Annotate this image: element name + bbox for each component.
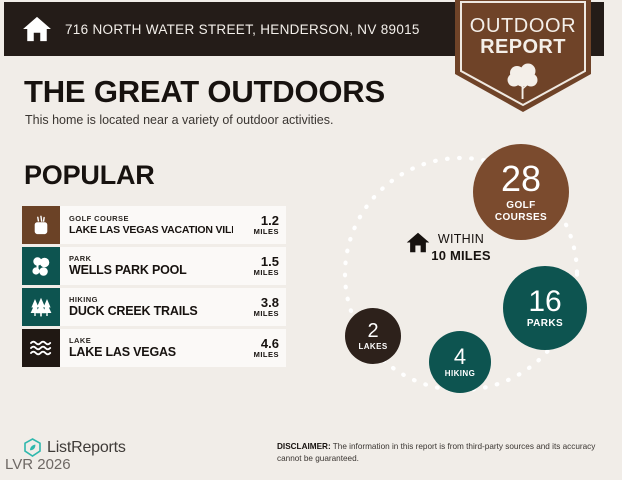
list-item-text: LAKE LAKE LAS VEGAS xyxy=(60,329,233,367)
bubble-lakes[interactable]: 2 LAKES xyxy=(345,308,401,364)
tree-icon xyxy=(506,62,540,100)
list-item-name: WELLS PARK POOL xyxy=(69,263,233,278)
page-title: THE GREAT OUTDOORS xyxy=(24,74,385,110)
list-item-category: PARK xyxy=(69,254,233,263)
distance-value: 3.8 xyxy=(233,296,279,310)
disclaimer: DISCLAIMER: The information in this repo… xyxy=(277,441,597,465)
bubble-label: PARKS xyxy=(527,319,563,329)
bubble-label-line1: GOLF xyxy=(506,200,535,211)
logo-text: ListReports xyxy=(47,439,126,457)
distance-value: 1.5 xyxy=(233,255,279,269)
distance-unit: MILES xyxy=(233,309,279,318)
list-item[interactable]: GOLF COURSE LAKE LAS VEGAS VACATION VILL… xyxy=(22,206,286,244)
list-item-category: GOLF COURSE xyxy=(69,214,233,223)
bubble-value: 2 xyxy=(367,321,378,341)
popular-list: GOLF COURSE LAKE LAS VEGAS VACATION VILL… xyxy=(22,206,286,370)
lvr-text: LVR 2026 xyxy=(5,456,71,473)
bubble-value: 16 xyxy=(528,287,561,317)
bubble-hiking[interactable]: 4 HIKING xyxy=(429,331,491,393)
list-item[interactable]: LAKE LAKE LAS VEGAS 4.6 MILES xyxy=(22,329,286,367)
bubble-golf-courses[interactable]: 28 GOLF COURSES xyxy=(473,144,569,240)
distance-unit: MILES xyxy=(233,227,279,236)
listreports-leaf-icon xyxy=(24,438,41,457)
list-item-text: GOLF COURSE LAKE LAS VEGAS VACATION VILL… xyxy=(60,206,233,244)
list-item-category: LAKE xyxy=(69,336,233,345)
home-icon xyxy=(22,16,52,42)
list-item-text: HIKING DUCK CREEK TRAILS xyxy=(60,288,233,326)
distance-value: 4.6 xyxy=(233,337,279,351)
list-item-distance: 4.6 MILES xyxy=(233,329,286,367)
list-item[interactable]: HIKING DUCK CREEK TRAILS 3.8 MILES xyxy=(22,288,286,326)
bubble-label: HIKING xyxy=(445,370,475,378)
outdoor-report-page: 716 NORTH WATER STREET, HENDERSON, NV 89… xyxy=(0,0,622,480)
water-waves-icon xyxy=(22,329,60,367)
disclaimer-label: DISCLAIMER: xyxy=(277,442,331,451)
home-icon xyxy=(406,232,430,253)
distance-unit: MILES xyxy=(233,350,279,359)
bubble-label: LAKES xyxy=(358,343,387,351)
list-item-distance: 3.8 MILES xyxy=(233,288,286,326)
listreports-logo[interactable]: ListReports xyxy=(24,438,126,457)
chart-center-label: WITHIN 10 MILES xyxy=(406,232,516,264)
list-item-category: HIKING xyxy=(69,295,233,304)
page-subtitle: This home is located near a variety of o… xyxy=(25,113,333,127)
pine-trees-icon xyxy=(22,288,60,326)
list-item-name: DUCK CREEK TRAILS xyxy=(69,304,233,319)
bubble-label: GOLF COURSES xyxy=(495,200,547,224)
list-item-distance: 1.2 MILES xyxy=(233,206,286,244)
park-trees-icon xyxy=(22,247,60,285)
list-item-name: LAKE LAS VEGAS xyxy=(69,345,233,360)
outdoor-report-badge: OUTDOOR REPORT xyxy=(455,0,591,112)
bubble-value: 28 xyxy=(501,161,541,197)
address-text: 716 NORTH WATER STREET, HENDERSON, NV 89… xyxy=(65,22,420,37)
list-item-text: PARK WELLS PARK POOL xyxy=(60,247,233,285)
list-item-name: LAKE LAS VEGAS VACATION VILLAS xyxy=(69,224,233,236)
section-title-popular: POPULAR xyxy=(24,160,155,191)
amenities-bubble-chart: 28 GOLF COURSES 16 PARKS 4 HIKING 2 LAKE… xyxy=(330,138,622,410)
bubble-label-line2: COURSES xyxy=(495,212,547,223)
bubble-value: 4 xyxy=(454,346,466,368)
distance-unit: MILES xyxy=(233,268,279,277)
distance-value: 1.2 xyxy=(233,214,279,228)
list-item-distance: 1.5 MILES xyxy=(233,247,286,285)
list-item[interactable]: PARK WELLS PARK POOL 1.5 MILES xyxy=(22,247,286,285)
bubble-parks[interactable]: 16 PARKS xyxy=(503,266,587,350)
golf-bag-icon xyxy=(22,206,60,244)
